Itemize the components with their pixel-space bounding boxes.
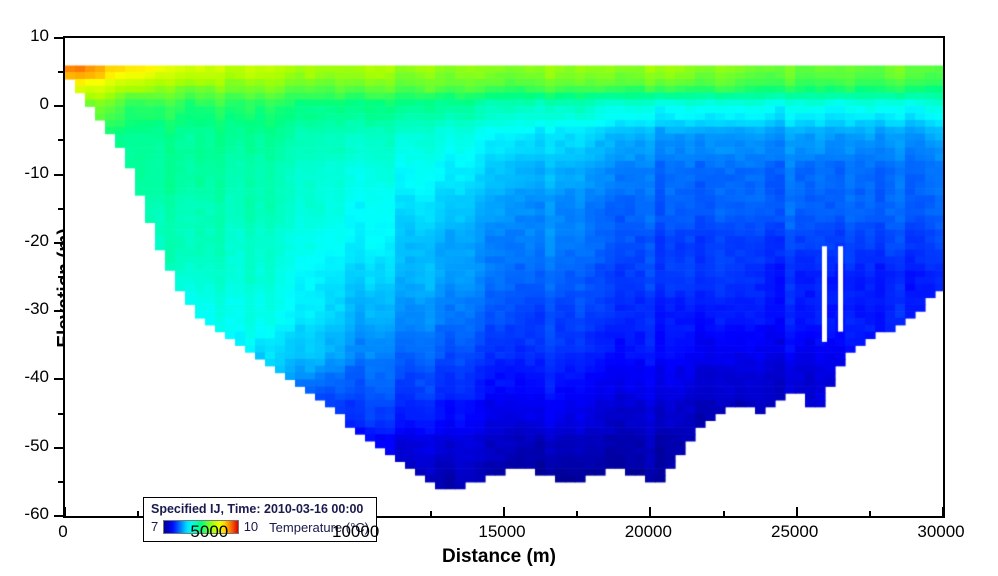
y-tick-minor <box>58 413 63 415</box>
y-tick-minor <box>58 344 63 346</box>
x-tick-label: 5000 <box>190 522 228 542</box>
x-tick-label: 15000 <box>478 522 525 542</box>
y-tick-minor <box>58 276 63 278</box>
y-tick-major <box>54 515 63 517</box>
y-tick-label: -30 <box>24 299 49 319</box>
y-tick-minor <box>58 481 63 483</box>
x-tick-label: 25000 <box>771 522 818 542</box>
x-tick-label: 20000 <box>625 522 672 542</box>
temperature-heatmap <box>65 38 943 516</box>
y-tick-label: 0 <box>40 94 49 114</box>
y-tick-label: -60 <box>24 504 49 524</box>
x-tick-major <box>942 507 944 516</box>
y-tick-major <box>54 105 63 107</box>
y-tick-major <box>54 174 63 176</box>
y-tick-minor <box>58 208 63 210</box>
y-tick-minor <box>58 71 63 73</box>
y-tick-major <box>54 37 63 39</box>
x-tick-major <box>649 507 651 516</box>
x-tick-minor <box>430 511 432 516</box>
y-tick-major <box>54 310 63 312</box>
legend-max-label: 10 <box>244 519 258 535</box>
y-tick-major <box>54 447 63 449</box>
x-axis-title: Distance (m) <box>0 546 998 568</box>
y-tick-minor <box>58 139 63 141</box>
legend-title: Specified IJ, Time: 2010-03-16 00:00 <box>151 501 369 517</box>
y-tick-label: -40 <box>24 367 49 387</box>
chart-root: Elevation (m) Specified IJ, Time: 2010-0… <box>0 0 998 576</box>
plot-area: Specified IJ, Time: 2010-03-16 00:00 7 1… <box>63 36 945 518</box>
legend-min-label: 7 <box>151 519 158 535</box>
x-tick-label: 10000 <box>332 522 379 542</box>
x-tick-minor <box>576 511 578 516</box>
y-tick-label: -10 <box>24 163 49 183</box>
y-tick-label: 10 <box>30 26 49 46</box>
y-tick-label: -50 <box>24 436 49 456</box>
x-tick-major <box>64 507 66 516</box>
x-tick-minor <box>723 511 725 516</box>
x-tick-major <box>796 507 798 516</box>
x-tick-major <box>503 507 505 516</box>
y-tick-major <box>54 242 63 244</box>
y-tick-major <box>54 378 63 380</box>
x-tick-minor <box>137 511 139 516</box>
y-tick-label: -20 <box>24 231 49 251</box>
x-tick-minor <box>869 511 871 516</box>
x-tick-label: 30000 <box>917 522 964 542</box>
x-tick-label: 0 <box>58 522 67 542</box>
